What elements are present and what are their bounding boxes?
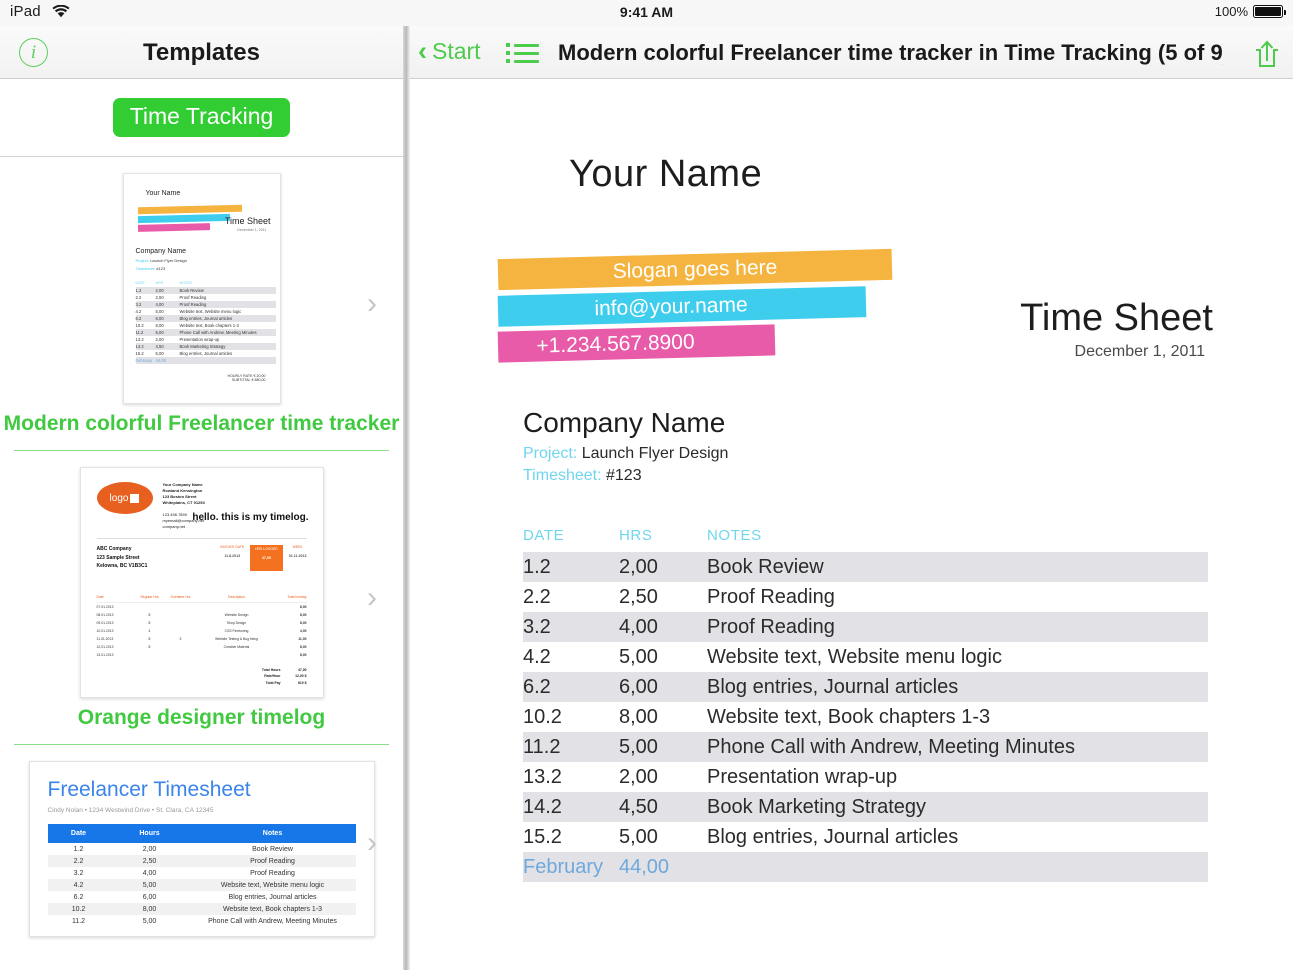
thumb3-th-date: Date	[48, 830, 110, 837]
doc-project-value: Launch Flyer Design	[582, 445, 729, 462]
doc-color-bars: Slogan goes here info@your.name +1.234.5…	[498, 254, 918, 364]
cell-hrs: 4,00	[619, 616, 707, 639]
cell-notes: Website text, Book chapters 1-3	[190, 906, 356, 913]
total-row: Rate/Hour 12,00 $	[97, 673, 307, 680]
cell: 8,00	[277, 645, 307, 649]
cell-hours: 4,00	[110, 870, 190, 877]
page-title: Templates	[0, 39, 403, 67]
thumb-subtotal-value: 880,00	[255, 378, 266, 382]
cell-date: 3.2	[136, 302, 156, 307]
slogan-bar: Slogan goes here	[498, 249, 893, 290]
cell-hrs: 4,50	[156, 344, 180, 349]
template-thumbnail-orange-timelog[interactable]: logo Your Company NameRowland Kensington…	[0, 451, 403, 702]
cell-date: 15.2	[136, 351, 156, 356]
summary-cell: WEEK01.11.2013	[289, 545, 307, 571]
cell-date: 15.2	[523, 826, 619, 849]
ipad-screen: iPad 9:41 AM 100% i Templates Time Track…	[0, 0, 1293, 970]
table-row: 3.24,00Proof Reading	[48, 867, 356, 879]
cell-date: February	[523, 856, 619, 879]
cell-date: 4.2	[48, 882, 110, 889]
thumb-time-sheet-title: Time Sheet	[225, 216, 271, 226]
table-row: 3.24,00Proof Reading	[523, 612, 1208, 642]
cell-notes: Blog entries, Journal articles	[190, 894, 356, 901]
cell-date: 13.2	[136, 337, 156, 342]
thumb3-th-hours: Hours	[110, 830, 190, 837]
cell-hrs: 5,00	[619, 736, 707, 759]
timesheet-document: Your Name Slogan goes here info@your.nam…	[410, 79, 1293, 970]
list-item[interactable]: Freelancer Timesheet Cindy Nolan • 1234 …	[0, 745, 403, 941]
table-row: 4.25,00Website text, Website menu logic	[523, 642, 1208, 672]
th: Regular Hrs	[135, 595, 165, 599]
battery-percent-label: 100%	[1215, 4, 1248, 19]
th: Overtime Hrs	[165, 595, 197, 599]
document-navbar: ‹ Start Modern colorful Freelancer time …	[410, 26, 1293, 79]
cell	[165, 613, 197, 617]
table-row: 11.25,00Phone Call with Andrew, Meeting …	[136, 329, 276, 336]
cell-notes: Presentation wrap-up	[707, 766, 1208, 789]
chevron-left-icon: ‹	[418, 39, 427, 63]
th-hrs: HRS	[619, 527, 707, 544]
cell-notes: Book Review	[190, 846, 356, 853]
share-icon[interactable]	[1251, 39, 1279, 69]
cell-notes: Phone Call with Andrew, Meeting Minutes	[180, 330, 276, 335]
cell: 8	[135, 637, 165, 641]
cell	[197, 605, 277, 609]
contact-line: company.net	[163, 524, 205, 530]
thumb3-table-header: Date Hours Notes	[48, 824, 356, 843]
cell: 4	[135, 629, 165, 633]
summary-value: 01.11.2013	[289, 554, 307, 558]
thumbnail-preview: Your Name Time Sheet December 1, 2011 Co…	[123, 173, 281, 404]
phone-bar: +1.234.567.8900	[498, 324, 776, 362]
cell: Shop Design	[197, 621, 277, 625]
cell-date: 14.2	[136, 344, 156, 349]
cell-date: 2.2	[523, 586, 619, 609]
thumb2-table-header: DateRegular HrsOvertime HrsDescriptionTo…	[97, 595, 307, 603]
thumb-timesheet-value: #123	[156, 266, 165, 271]
cell-hrs: 2,00	[156, 288, 180, 293]
table-row: 1.22,00Book Review	[48, 843, 356, 855]
thumb2-company-lines: Your Company NameRowland Kensington123 B…	[163, 482, 205, 506]
cell: 11,00	[277, 637, 307, 641]
table-row: 4.25,00Website text, Website menu logic	[48, 879, 356, 891]
cell-notes: Proof Reading	[190, 870, 356, 877]
cell-hrs: 8,00	[619, 706, 707, 729]
cell-date: 11.2	[136, 330, 156, 335]
thumb-th-date: DATE	[136, 281, 156, 285]
thumb-bar-pink	[137, 223, 209, 232]
list-item[interactable]: Your Name Time Sheet December 1, 2011 Co…	[0, 157, 403, 450]
logo-icon: logo	[97, 482, 153, 514]
template-label: Modern colorful Freelancer time tracker	[0, 408, 403, 450]
doc-timesheet-label: Timesheet:	[523, 467, 602, 484]
cell	[135, 605, 165, 609]
back-button[interactable]: ‹ Start	[418, 38, 481, 65]
cell: 8,00	[277, 621, 307, 625]
cell-notes: Phone Call with Andrew, Meeting Minutes	[707, 736, 1208, 759]
cell	[197, 653, 277, 657]
cell-hrs: 2,50	[156, 295, 180, 300]
cell: Website Testing & Bug fixing	[197, 637, 277, 641]
status-clock: 9:41 AM	[0, 4, 1293, 20]
divider	[97, 538, 307, 539]
template-label: Orange designer timelog	[0, 702, 403, 744]
cell: 07.01.2013	[97, 605, 135, 609]
table-body: 1.22,00Book Review2.22,50Proof Reading3.…	[523, 552, 1208, 882]
thumbnail-preview: Freelancer Timesheet Cindy Nolan • 1234 …	[29, 761, 375, 937]
doc-timesheet-value: #123	[606, 467, 642, 484]
table-row: 07.01.20138,00	[97, 603, 307, 611]
category-filter-bar: Time Tracking	[0, 79, 403, 157]
thumb-subtotal-label: SUBTOTAL	[232, 378, 251, 382]
table-row: 13.22,00Presentation wrap-up	[136, 336, 276, 343]
summary-label: WEEK	[293, 545, 303, 549]
cell-notes	[180, 358, 276, 363]
logo-text: logo	[110, 493, 129, 504]
cell: 08.01.2013	[97, 613, 135, 617]
table-row: 11.25,00Phone Call with Andrew, Meeting …	[523, 732, 1208, 762]
cell-notes: Book Review	[707, 556, 1208, 579]
cell: 8	[135, 621, 165, 625]
cell-notes: Presentation wrap-up	[180, 337, 276, 342]
cell-notes: Book Review	[180, 288, 276, 293]
category-pill-time-tracking[interactable]: Time Tracking	[113, 98, 291, 137]
client-line: ABC Company	[97, 545, 148, 554]
cell: CSS Finetuning	[197, 629, 277, 633]
client-line: 123 Sample Street	[97, 554, 148, 563]
cell	[165, 629, 197, 633]
doc-your-name: Your Name	[569, 153, 762, 196]
summary-cell: HRS LOGGED47,00	[250, 545, 283, 571]
cell-date: 10.2	[136, 323, 156, 328]
slogan-text: Slogan goes here	[612, 256, 777, 283]
summary-label: INVOICE DATE	[220, 545, 244, 549]
status-battery-group: 100%	[1215, 4, 1283, 19]
cell-notes: Proof Reading	[190, 858, 356, 865]
doc-time-sheet-date: December 1, 2011	[1075, 343, 1205, 361]
template-thumbnail-freelancer-timesheet[interactable]: Freelancer Timesheet Cindy Nolan • 1234 …	[0, 745, 403, 941]
thumb-project-label: Project:	[136, 258, 150, 263]
cell-date: 13.2	[523, 766, 619, 789]
cell-notes: Website text, Website menu logic	[180, 309, 276, 314]
doc-project-line: Project: Launch Flyer Design	[523, 443, 728, 465]
cell-notes: Website text, Book chapters 1-3	[180, 323, 276, 328]
client-line: Kelowna, BC V1B3C1	[97, 562, 148, 571]
table-row: 6.26,00Blog entries, Journal articles	[523, 672, 1208, 702]
thumb-table-body: 1.22,00Book Review2.22,50Proof Reading3.…	[136, 287, 276, 364]
total-label: Rate/Hour	[255, 673, 281, 680]
list-item[interactable]: logo Your Company NameRowland Kensington…	[0, 451, 403, 744]
cell-hrs: 2,50	[619, 586, 707, 609]
cell: 8,00	[277, 613, 307, 617]
table-row: 10.28,00Website text, Book chapters 1-3	[136, 322, 276, 329]
table-row: 11.25,00Phone Call with Andrew, Meeting …	[48, 915, 356, 927]
thumb-project-line: Project: Launch Flyer Design	[136, 258, 270, 263]
cell	[165, 645, 197, 649]
thumb3-title: Freelancer Timesheet	[48, 778, 356, 802]
cell-notes: Phone Call with Andrew, Meeting Minutes	[190, 918, 356, 925]
thumb-table: DATE HRS NOTES 1.22,00Book Review2.22,50…	[136, 281, 276, 364]
cell: 11.01.2013	[97, 637, 135, 641]
total-value: 12,00 $	[281, 673, 307, 680]
table-row: 10.28,00Website text, Book chapters 1-3	[523, 702, 1208, 732]
cell-date: 1.2	[48, 846, 110, 853]
cell-date: 6.2	[136, 316, 156, 321]
back-button-label: Start	[432, 38, 481, 65]
phone-text: +1.234.567.8900	[456, 324, 776, 363]
cell: 8	[135, 613, 165, 617]
cell-hrs: 5,00	[156, 309, 180, 314]
th-date: DATE	[523, 527, 619, 544]
cell-date: 14.2	[523, 796, 619, 819]
thumb-bar-orange	[137, 205, 241, 215]
table-row: 12.01.20138Creative Material8,00	[97, 643, 307, 651]
thumb2-summary-boxes: INVOICE DATE11.8.2013HRS LOGGED47,00WEEK…	[220, 545, 306, 571]
cell	[165, 605, 197, 609]
thumb2-table-body: 07.01.20138,0008.01.20138Website Design8…	[97, 603, 307, 659]
cell-date: 6.2	[523, 676, 619, 699]
cell-date: 11.2	[523, 736, 619, 759]
cell-hrs: 44,00	[156, 358, 180, 363]
cell-hrs: 5,00	[619, 826, 707, 849]
table-row: 3.24,00Proof Reading	[136, 301, 276, 308]
thumb-th-hrs: HRS	[156, 281, 180, 285]
doc-company-name: Company Name	[523, 407, 725, 439]
cell-hours: 6,00	[110, 894, 190, 901]
cell-notes: Blog entries, Journal articles	[180, 316, 276, 321]
company-line: Whiteplains, CT 01293	[163, 500, 205, 506]
thumb-timesheet-label: Timesheet:	[136, 266, 156, 271]
cell: 8,00	[277, 605, 307, 609]
thumb-company-name: Company Name	[136, 248, 270, 255]
cell-notes: Blog entries, Journal articles	[707, 826, 1208, 849]
cell-hrs: 6,00	[619, 676, 707, 699]
cell: 8,00	[277, 653, 307, 657]
summary-cell: INVOICE DATE11.8.2013	[220, 545, 244, 571]
table-row: 6.26,00Blog entries, Journal articles	[136, 315, 276, 322]
total-label: Total Pay	[255, 680, 281, 687]
th: Total hrs/day	[277, 595, 307, 599]
th: Date	[97, 595, 135, 599]
table-row: 2.22,50Proof Reading	[523, 582, 1208, 612]
thumb-project-value: Launch Flyer Design	[150, 258, 187, 263]
cell: 8	[135, 645, 165, 649]
cell-date: 3.2	[48, 870, 110, 877]
table-row: 13.22,00Presentation wrap-up	[523, 762, 1208, 792]
cell-hours: 8,00	[110, 906, 190, 913]
table-row: 15.25,00Blog entries, Journal articles	[136, 350, 276, 357]
thumb2-midsection: ABC Company123 Sample StreetKelowna, BC …	[97, 545, 307, 571]
thumb3-subtitle: Cindy Nolan • 1234 Westwind Drive • St. …	[48, 807, 356, 814]
cell-date: 4.2	[136, 309, 156, 314]
email-text: info@your.name	[476, 286, 867, 327]
table-row: 4.25,00Website text, Website menu logic	[136, 308, 276, 315]
cell-date: 1.2	[136, 288, 156, 293]
thumb-your-name: Your Name	[146, 190, 270, 197]
cell-hrs: 6,00	[156, 316, 180, 321]
cell-date: 11.2	[48, 918, 110, 925]
table-header: DATE HRS NOTES	[523, 527, 1208, 552]
cell: 10.01.2013	[97, 629, 135, 633]
total-row: Total Hours 47,00	[97, 667, 307, 674]
table-row: 11.01.201383Website Testing & Bug fixing…	[97, 635, 307, 643]
table-row: 2.22,50Proof Reading	[48, 855, 356, 867]
cell-notes: Website text, Book chapters 1-3	[707, 706, 1208, 729]
split-view-divider[interactable]	[403, 26, 410, 970]
total-value: 47,00	[281, 667, 307, 674]
cell: 13.01.2013	[97, 653, 135, 657]
cell: 3	[165, 637, 197, 641]
cell-hours: 2,50	[110, 858, 190, 865]
cell-date: 6.2	[48, 894, 110, 901]
table-row: 14.24,50Book Marketing Strategy	[523, 792, 1208, 822]
document-title: Modern colorful Freelancer time tracker …	[558, 40, 1223, 66]
doc-project-label: Project:	[523, 445, 577, 462]
cell-notes: Book Marketing Strategy	[707, 796, 1208, 819]
thumb2-tagline: hello. this is my timelog.	[192, 512, 308, 523]
sidebar-navbar: i Templates	[0, 26, 403, 79]
email-bar: info@your.name	[498, 286, 867, 327]
cell-hours: 5,00	[110, 918, 190, 925]
chevron-right-icon[interactable]: ›	[367, 828, 377, 858]
total-row: Total Pay 610 $	[97, 680, 307, 687]
summary-value: 11.8.2013	[220, 554, 244, 558]
table-row: 2.22,50Proof Reading	[136, 294, 276, 301]
thumb3-th-notes: Notes	[190, 830, 356, 837]
cell-notes: Book Marketing Strategy	[180, 344, 276, 349]
cell-notes: Blog entries, Journal articles	[707, 676, 1208, 699]
total-label: Total Hours	[255, 667, 281, 674]
cell-hrs: 8,00	[156, 323, 180, 328]
cell-hrs: 4,00	[156, 302, 180, 307]
table-row: 10.01.20134CSS Finetuning4,00	[97, 627, 307, 635]
table-row: 08.01.20138Website Design8,00	[97, 611, 307, 619]
cell-date: 2.2	[136, 295, 156, 300]
thumb-bar-cyan	[137, 214, 229, 223]
thumb2-client-lines: ABC Company123 Sample StreetKelowna, BC …	[97, 545, 148, 571]
summary-value: 47,00	[255, 556, 278, 560]
cell-hrs: 5,00	[156, 330, 180, 335]
cell-notes: Website text, Website menu logic	[707, 646, 1208, 669]
template-thumbnail-modern-colorful[interactable]: Your Name Time Sheet December 1, 2011 Co…	[0, 157, 403, 408]
cell-notes: Proof Reading	[180, 302, 276, 307]
th-notes: NOTES	[707, 527, 1208, 544]
cell-hours: 2,00	[110, 846, 190, 853]
cell	[165, 653, 197, 657]
cell-date: 4.2	[523, 646, 619, 669]
document-pane: ‹ Start Modern colorful Freelancer time …	[410, 26, 1293, 970]
doc-time-sheet-title: Time Sheet	[1020, 297, 1213, 340]
cell: Website Design	[197, 613, 277, 617]
thumb2-table: DateRegular HrsOvertime HrsDescriptionTo…	[97, 595, 307, 659]
cell-notes: Proof Reading	[180, 295, 276, 300]
cell-hrs: 5,00	[156, 351, 180, 356]
status-bar: iPad 9:41 AM 100%	[0, 0, 1293, 26]
doc-meta-block: Project: Launch Flyer Design Timesheet: …	[523, 443, 728, 487]
cell	[165, 621, 197, 625]
total-value: 610 $	[281, 680, 307, 687]
cell-notes: Proof Reading	[707, 586, 1208, 609]
table-row: 6.26,00Blog entries, Journal articles	[48, 891, 356, 903]
cell: Creative Material	[197, 645, 277, 649]
cell-notes: Proof Reading	[707, 616, 1208, 639]
cell: 4,00	[277, 629, 307, 633]
cell: 09.01.2013	[97, 621, 135, 625]
cell-date: February	[136, 358, 156, 363]
thumb-totals: HOURLY RATE € 20,00 SUBTOTAL € 880,00	[134, 374, 266, 382]
thumb-time-sheet-date: December 1, 2011	[237, 228, 266, 232]
battery-icon	[1253, 5, 1283, 18]
table-row: 10.28,00Website text, Book chapters 1-3	[48, 903, 356, 915]
cell-hrs: 5,00	[619, 646, 707, 669]
th: Description	[197, 595, 277, 599]
table-row: February44,00	[136, 357, 276, 364]
summary-label: HRS LOGGED	[255, 547, 278, 551]
cell-date: 10.2	[523, 706, 619, 729]
cell-hrs: 44,00	[619, 856, 707, 879]
cell-date: 1.2	[523, 556, 619, 579]
cell: 12.01.2013	[97, 645, 135, 649]
table-row: 13.01.20138,00	[97, 651, 307, 659]
templates-sidebar: i Templates Time Tracking Your Name Time…	[0, 26, 403, 970]
table-row: 14.24,50Book Marketing Strategy	[136, 343, 276, 350]
chevron-right-icon[interactable]: ›	[367, 289, 377, 319]
chevron-right-icon[interactable]: ›	[367, 583, 377, 613]
cell-notes: Blog entries, Journal articles	[180, 351, 276, 356]
cell-hrs: 2,00	[156, 337, 180, 342]
cell-date: 2.2	[48, 858, 110, 865]
thumb3-table-body: 1.22,00Book Review2.22,50Proof Reading3.…	[48, 843, 356, 927]
timesheet-table: DATE HRS NOTES 1.22,00Book Review2.22,50…	[523, 527, 1208, 882]
doc-timesheet-line: Timesheet: #123	[523, 465, 728, 487]
cell-notes: Website text, Website menu logic	[190, 882, 356, 889]
thumbnail-preview: logo Your Company NameRowland Kensington…	[80, 467, 324, 698]
thumb-th-notes: NOTES	[180, 281, 276, 285]
cell-date: 10.2	[48, 906, 110, 913]
thumb-subtotal-currency: €	[252, 378, 254, 382]
table-row: 1.22,00Book Review	[523, 552, 1208, 582]
table-row: 15.25,00Blog entries, Journal articles	[523, 822, 1208, 852]
thumb-subtotal-row: SUBTOTAL € 880,00	[134, 378, 266, 382]
table-row: 09.01.20138Shop Design8,00	[97, 619, 307, 627]
cell	[135, 653, 165, 657]
cell-hrs: 4,50	[619, 796, 707, 819]
table-row: February44,00	[523, 852, 1208, 882]
list-icon[interactable]	[506, 43, 539, 67]
cell-hrs: 2,00	[619, 556, 707, 579]
cell-hours: 5,00	[110, 882, 190, 889]
cell-date: 3.2	[523, 616, 619, 639]
cell-hrs: 2,00	[619, 766, 707, 789]
table-row: 1.22,00Book Review	[136, 287, 276, 294]
thumb-timesheet-line: Timesheet: #123	[136, 266, 270, 271]
thumb2-totals: Total Hours 47,00Rate/Hour 12,00 $Total …	[97, 667, 307, 687]
